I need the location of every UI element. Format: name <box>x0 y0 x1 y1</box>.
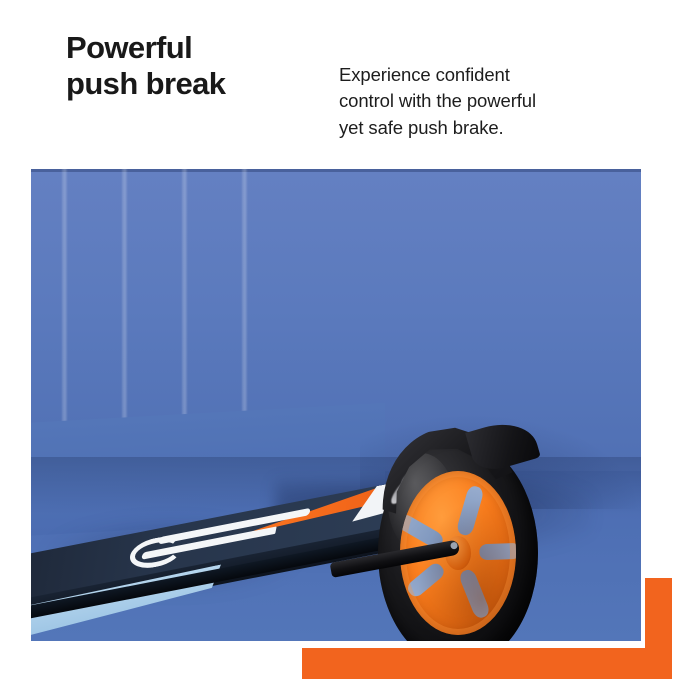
rim-spoke-gap <box>405 561 447 600</box>
product-photo <box>31 169 641 641</box>
rim-spoke-gap <box>458 568 492 620</box>
orange-accent-horizontal-bar <box>302 648 672 679</box>
page-subcopy: Experience confident control with the po… <box>339 62 629 141</box>
rear-wheel <box>378 439 538 641</box>
rim-spoke-gap <box>479 543 516 560</box>
axle-cap <box>450 542 458 550</box>
rim-spoke-gap <box>456 484 485 536</box>
page-headline: Powerful push break <box>66 30 326 102</box>
